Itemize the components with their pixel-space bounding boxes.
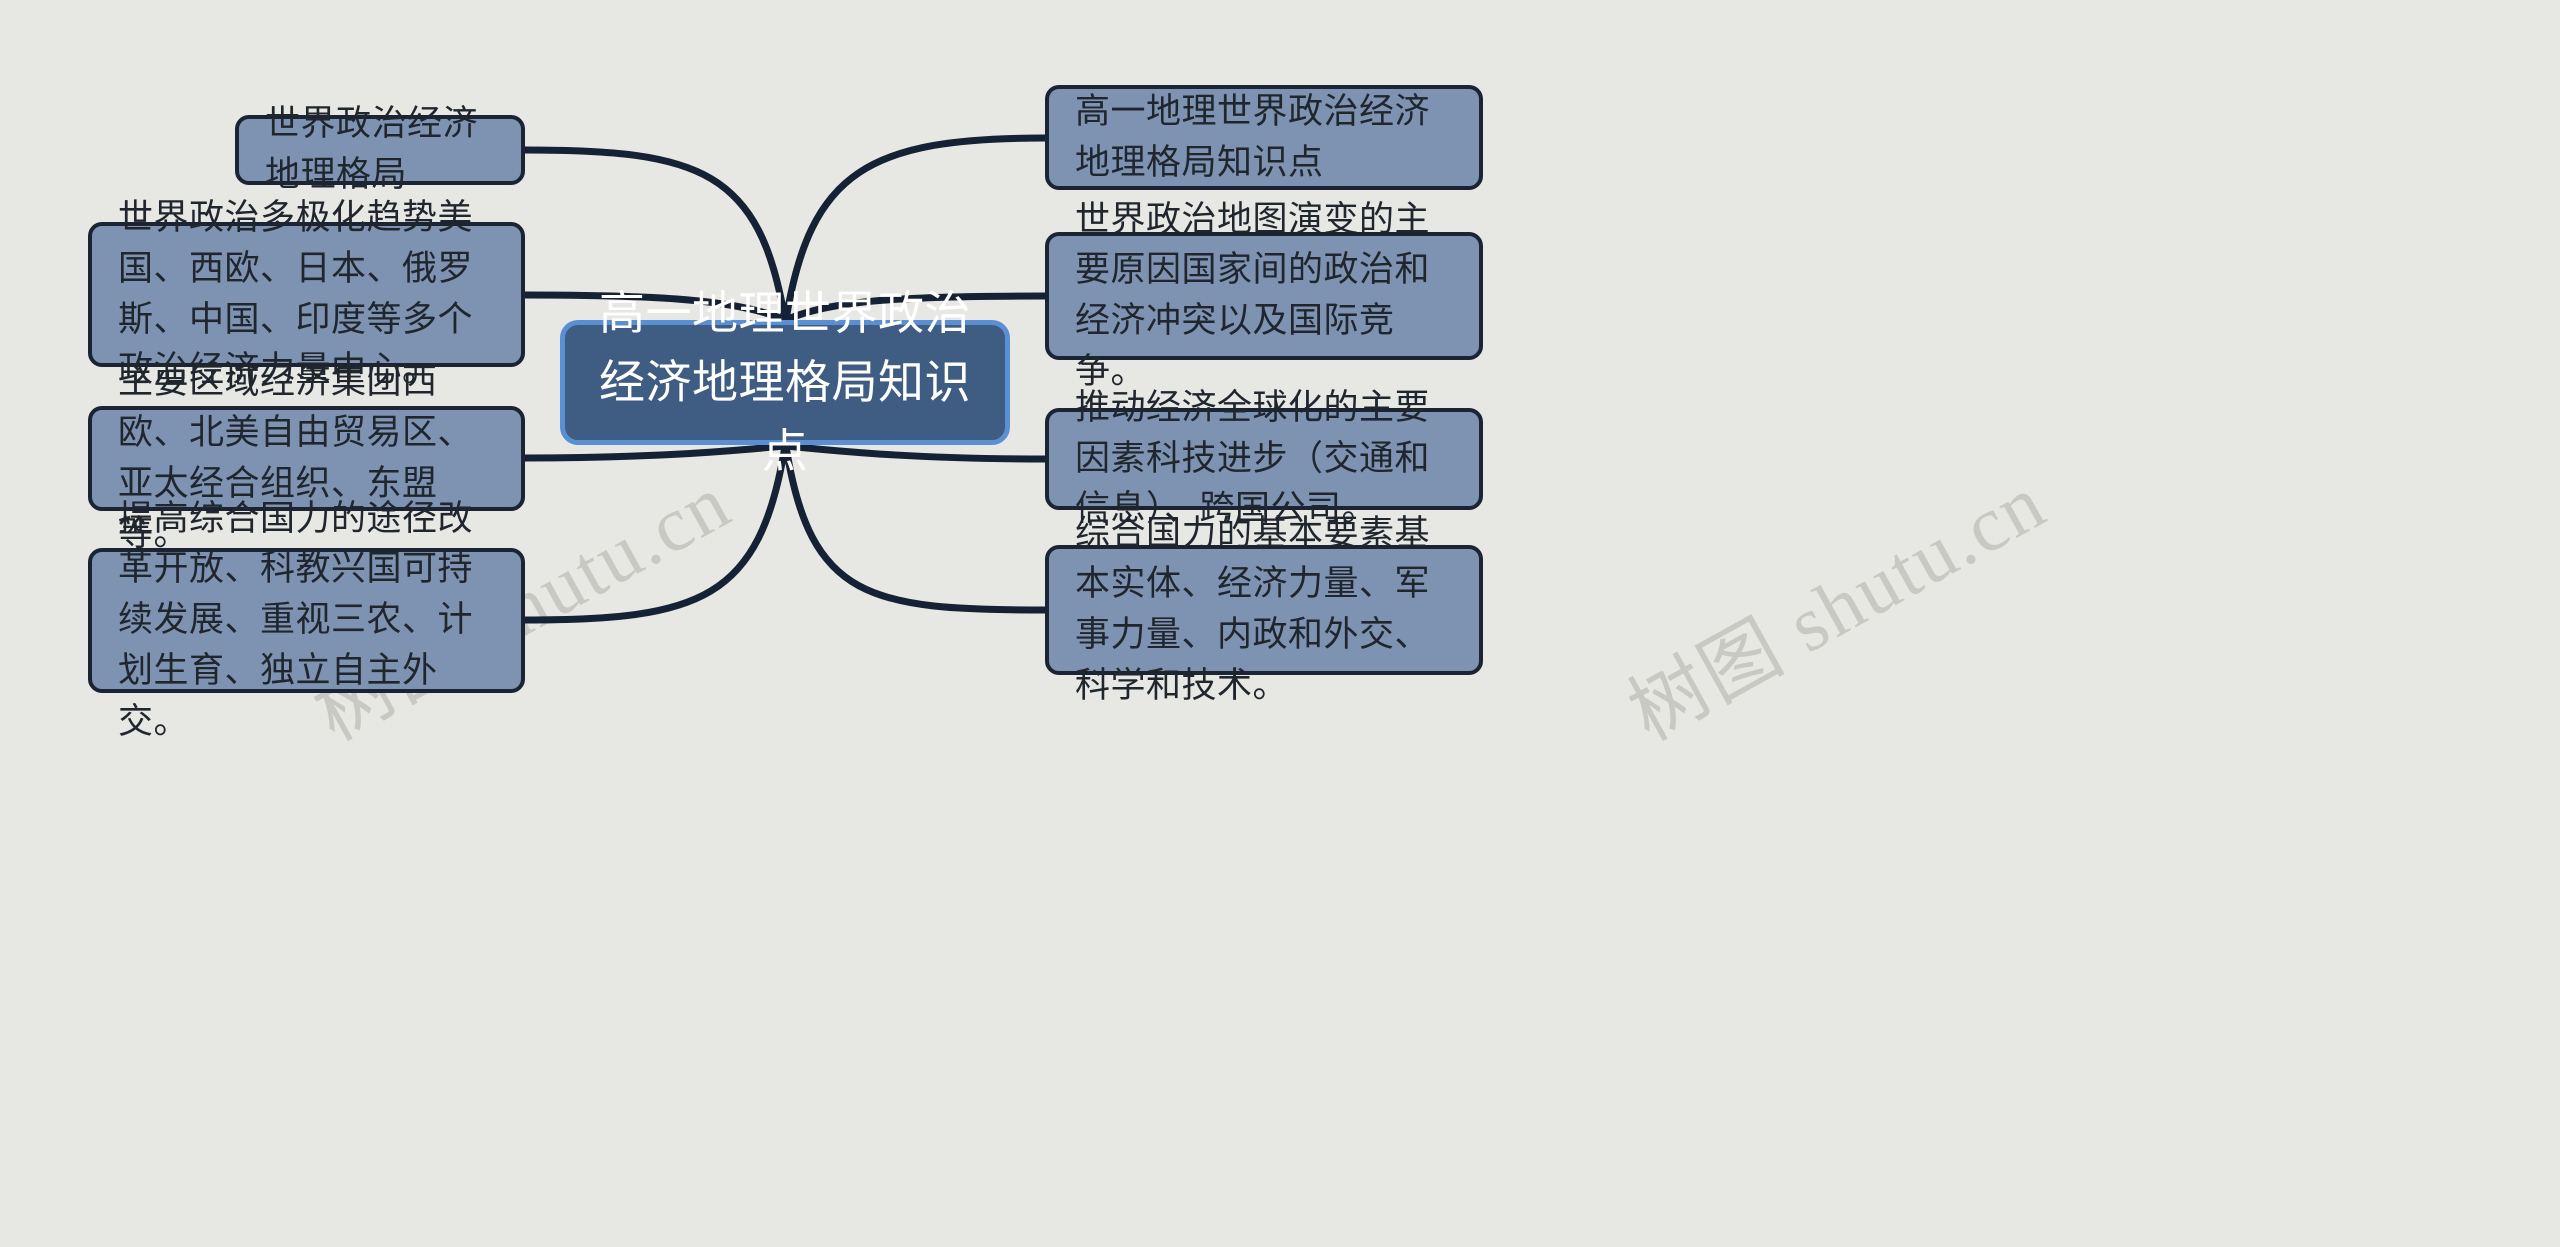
branch-node-left-2[interactable]: 世界政治多极化趋势美国、西欧、日本、俄罗斯、中国、印度等多个政治经济力量中心。 bbox=[88, 222, 525, 367]
watermark-right: 树图 shutu.cn bbox=[1606, 441, 2062, 762]
branch-node-left-1[interactable]: 世界政治经济地理格局 bbox=[235, 115, 525, 185]
branch-node-left-4-label: 提高综合国力的途径改革开放、科教兴国可持续发展、重视三农、计划生育、独立自主外交… bbox=[118, 494, 495, 748]
branch-node-right-2[interactable]: 世界政治地图演变的主要原因国家间的政治和经济冲突以及国际竞争。 bbox=[1045, 232, 1483, 360]
branch-node-right-3[interactable]: 推动经济全球化的主要因素科技进步（交通和信息）、跨国公司。 bbox=[1045, 408, 1483, 510]
branch-node-right-1[interactable]: 高一地理世界政治经济地理格局知识点 bbox=[1045, 85, 1483, 190]
branch-node-left-4[interactable]: 提高综合国力的途径改革开放、科教兴国可持续发展、重视三农、计划生育、独立自主外交… bbox=[88, 548, 525, 693]
mindmap-canvas: 树图 shutu.cn 树图 shutu.cn 世界政治经济地理格局 世界政治多… bbox=[0, 0, 2560, 1247]
branch-node-right-4[interactable]: 综合国力的基本要素基本实体、经济力量、军事力量、内政和外交、科学和技术。 bbox=[1045, 545, 1483, 675]
center-node[interactable]: 高一地理世界政治经济地理格局知识点 bbox=[560, 320, 1010, 445]
branch-node-right-1-label: 高一地理世界政治经济地理格局知识点 bbox=[1075, 87, 1453, 189]
branch-node-right-4-label: 综合国力的基本要素基本实体、经济力量、军事力量、内政和外交、科学和技术。 bbox=[1075, 509, 1453, 712]
branch-node-left-1-label: 世界政治经济地理格局 bbox=[265, 99, 495, 201]
center-node-label: 高一地理世界政治经济地理格局知识点 bbox=[591, 279, 979, 486]
branch-node-right-2-label: 世界政治地图演变的主要原因国家间的政治和经济冲突以及国际竞争。 bbox=[1075, 195, 1453, 398]
